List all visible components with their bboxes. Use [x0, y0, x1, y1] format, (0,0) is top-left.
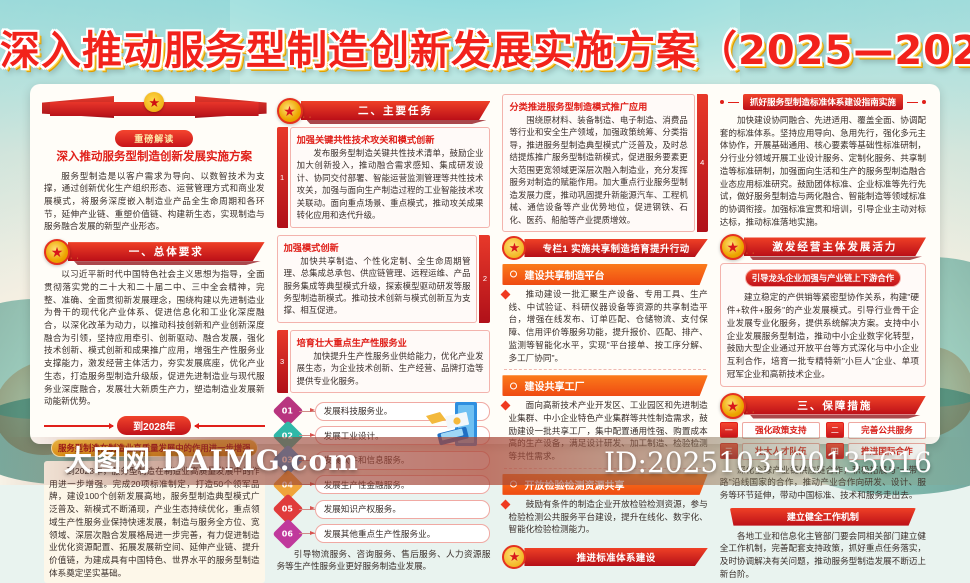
- section-bar-shadow: [74, 261, 261, 265]
- badge-interpretation: 重磅解读: [115, 130, 193, 147]
- lead-title: 深入推动服务型制造创新发展实施方案: [44, 150, 265, 166]
- star-emblem-icon: ★: [144, 92, 164, 112]
- task-title: 加强关键共性技术攻关和模式创新: [297, 132, 484, 146]
- task-title: 分类推进服务型制造模式推广应用: [509, 99, 687, 113]
- list-item-label: 发展其他重点生产性服务业。: [315, 524, 491, 543]
- task-card: 2 加强模式创新 加快共享制造、个性化定制、全生命周期管理、总集成总承包、供应链…: [277, 235, 491, 323]
- lead-body: 服务型制造是以客户需求为导向、以数智技术为支撑，通过创新优化生产组织形态、运营管…: [44, 170, 265, 234]
- task-card-body: 加强关键共性技术攻关和模式创新 发布服务型制造关键共性技术清单，鼓励企业加大创新…: [290, 127, 491, 228]
- measure-label: 强化政策支持: [742, 422, 820, 439]
- section-bar: 激发经营主体发展活力: [744, 237, 926, 256]
- list-item-number: 06: [282, 529, 293, 538]
- column-promotion: 4 分类推进服务型制造模式推广应用 围绕原材料、装备制造、电子制造、消费品等行业…: [496, 90, 713, 438]
- spark-dots-icon: · ·: [746, 250, 756, 257]
- column-banner-standards: ★ 推进标准体系建设: [502, 548, 707, 568]
- subitem-header: 建设共享工厂: [502, 375, 707, 396]
- task-title: 加强模式创新: [284, 240, 471, 254]
- connector-arrow-icon: [299, 411, 315, 412]
- column-banner-bar: 专栏1 实施共享制造培育提升行动: [524, 239, 707, 257]
- section1-body: 以习近平新时代中国特色社会主义思想为指导，全面贯彻落实党的二十大和二十届二中、三…: [44, 268, 265, 408]
- subitem-body: 推动建设一批汇聚生产设备、专用工具、生产线、中试验证、科研仪器设备等资源的共享制…: [508, 288, 707, 364]
- section-header-general-requirements: ★ · · 一、总体要求: [44, 241, 265, 263]
- section-label: 激发经营主体发展活力: [772, 239, 897, 254]
- section-bar-shadow: [750, 256, 922, 260]
- section-bar: 一、总体要求: [68, 242, 265, 261]
- column-standards-measures: 抓好服务型制造标准体系建设指南实施 加快建设协同融合、先进适用、覆盖全面、协调配…: [714, 90, 932, 438]
- column-banner-bar: 推进标准体系建设: [524, 548, 707, 566]
- task-number: 1: [277, 127, 288, 228]
- star-badge-icon: ★: [277, 98, 303, 124]
- section-label: 一、总体要求: [129, 244, 204, 259]
- tag-label: 抓好服务型制造标准体系建设指南实施: [743, 94, 903, 110]
- section-bar: 三、保障措施: [744, 396, 926, 415]
- top-ribbon-banner: ★: [44, 92, 265, 126]
- column-overview: ★ 重磅解读 深入推动服务型制造创新发展实施方案 服务型制造是以客户需求为导向、…: [38, 90, 271, 438]
- star-badge-icon: ★: [720, 393, 746, 419]
- list-item-label: 发展知识产权服务。: [315, 500, 491, 519]
- dot-icon: [720, 100, 724, 104]
- divider-line-left: [44, 425, 113, 427]
- work-mechanism-bar: 建立健全工作机制: [730, 508, 916, 526]
- list-item: 05 发展知识产权服务。: [277, 498, 491, 520]
- task-number: 3: [277, 330, 288, 393]
- content-panel: ★ 重磅解读 深入推动服务型制造创新发展实施方案 服务型制造是以客户需求为导向、…: [30, 84, 940, 444]
- list-item-number: 05: [282, 505, 293, 514]
- spark-dots-icon: · ·: [303, 114, 313, 121]
- connector-arrow-icon: [299, 509, 315, 510]
- standards-body: 加快建设协同融合、先进适用、覆盖全面、协调配套的标准体系。坚持应用导向、急用先行…: [720, 114, 926, 228]
- spark-dots-icon: · ·: [70, 255, 80, 262]
- task-number: 4: [697, 94, 708, 232]
- column-main-tasks: ★ · · 二、主要任务 1 加强关键共性技术攻关和模式创新 发布服务型制造关键…: [271, 90, 497, 438]
- task-card-body: 加强模式创新 加快共享制造、个性化定制、全生命周期管理、总集成总承包、供应链管理…: [277, 235, 478, 323]
- column-banner-label: 专栏1 实施共享制造培育提升行动: [543, 241, 690, 255]
- measure-label: 完善公共服务: [848, 422, 926, 439]
- task-card-body: 分类推进服务型制造模式推广应用 围绕原材料、装备制造、电子制造、消费品等行业和安…: [502, 94, 694, 232]
- year-divider: 到2028年: [44, 416, 265, 435]
- task-body: 围绕原材料、装备制造、电子制造、消费品等行业和安全生产领域，加强政策统筹、分类指…: [509, 114, 687, 226]
- list-item-number: 01: [282, 407, 293, 416]
- column-banner-shared-manufacturing: ★ 专栏1 实施共享制造培育提升行动: [502, 239, 707, 259]
- services-tail-body: 引导物流服务、咨询服务、售后服务、人力资源服务等生产性服务业更好服务制造业发展。: [277, 548, 491, 573]
- vitality-body: 建立稳定的产供销等紧密型协作关系，构建"硬件+软件+服务"的产业发展模式。引导行…: [727, 291, 919, 380]
- task-card: 1 加强关键共性技术攻关和模式创新 发布服务型制造关键共性技术清单，鼓励企业加大…: [277, 127, 491, 228]
- star-badge-icon: ★: [720, 234, 746, 260]
- section-bar-shadow: [750, 415, 922, 419]
- list-item: 06 发展其他重点生产性服务业。: [277, 523, 491, 545]
- section-bar-shadow: [307, 120, 487, 124]
- star-badge-icon: ★: [44, 239, 70, 265]
- year-pill: 到2028年: [117, 416, 191, 435]
- column-banner-label: 推进标准体系建设: [577, 550, 656, 564]
- watermark-site: 大图网 DAIMG.com: [64, 439, 359, 479]
- section-header-safeguards: ★ · · 三、保障措施: [720, 395, 926, 417]
- subitem-body: 鼓励有条件的制造企业开放检验检测资源，参与检验检测公共服务平台建设，提升在线化、…: [508, 498, 707, 536]
- section-header-main-tasks: ★ · · 二、主要任务: [277, 100, 491, 122]
- subitem-header: 建设共享制造平台: [502, 264, 707, 285]
- vitality-subtitle: 引导龙头企业加强与产业链上下游合作: [745, 269, 901, 287]
- section-bar: 二、主要任务: [301, 101, 491, 120]
- star-badge-icon: ★: [502, 236, 526, 260]
- spark-dots-icon: · ·: [746, 409, 756, 416]
- dash-line-right: [907, 102, 918, 103]
- star-badge-icon: ★: [502, 545, 526, 569]
- task-number: 2: [479, 235, 490, 323]
- vitality-box: 引导龙头企业加强与产业链上下游合作 建立稳定的产供销等紧密型协作关系，构建"硬件…: [720, 263, 926, 386]
- task-card: 3 培育壮大重点生产性服务业 加快提升生产性服务业供给能力，优化产业发展生态，为…: [277, 330, 491, 393]
- connector-arrow-icon: [299, 435, 315, 436]
- dash-line-left: [728, 102, 739, 103]
- measure-number: 二: [826, 422, 844, 438]
- task-body: 发布服务型制造关键共性技术清单，鼓励企业加大创新投入，推动融合需求感知、集成研发…: [297, 147, 484, 222]
- work-mechanism-body: 各地工业和信息化主管部门要会同相关部门建立健全工作机制，完善配套支持政策，抓好重…: [720, 530, 926, 581]
- task-card: 4 分类推进服务型制造模式推广应用 围绕原材料、装备制造、电子制造、消费品等行业…: [502, 94, 707, 232]
- measure-item: 一 强化政策支持: [720, 422, 820, 439]
- connector-arrow-icon: [299, 533, 315, 534]
- section-label: 二、主要任务: [358, 103, 433, 118]
- task-body: 加快共享制造、个性化定制、全生命周期管理、总集成总承包、供应链管理、远程运维、产…: [284, 255, 471, 317]
- section-header-vitality: ★ · · 激发经营主体发展活力: [720, 236, 926, 258]
- tag-header-standards: 抓好服务型制造标准体系建设指南实施: [720, 94, 926, 110]
- measure-number: 一: [720, 422, 738, 438]
- divider-line-right: [195, 425, 264, 427]
- task-card-body: 培育壮大重点生产性服务业 加快提升生产性服务业供给能力，优化产业发展生态，为企业…: [290, 330, 491, 393]
- dot-icon: [922, 100, 926, 104]
- divider: [504, 369, 705, 370]
- page-title: 深入推动服务型制造创新发展实施方案（2025—2028年）: [0, 18, 970, 76]
- measure-item: 二 完善公共服务: [826, 422, 926, 439]
- watermark-id: ID:2025103100135616: [604, 446, 932, 479]
- task-body: 加快提升生产性服务业供给能力，优化产业发展生态，为企业技术创新、生产经营、品牌打…: [297, 350, 484, 387]
- section-label: 三、保障措施: [797, 398, 872, 413]
- task-title: 培育壮大重点生产性服务业: [297, 335, 484, 349]
